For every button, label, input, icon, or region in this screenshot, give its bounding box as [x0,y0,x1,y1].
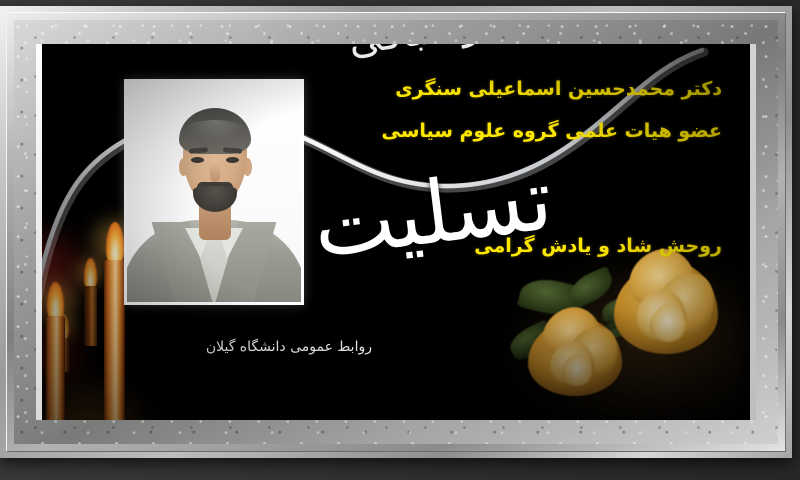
portrait-photo [124,79,304,305]
rose-petal [562,354,592,386]
candle-body [104,260,125,420]
rose-icon [610,246,722,358]
rose-petal [650,304,686,342]
invocation-calligraphy: هو الباقی [345,44,504,65]
portrait-image [127,82,301,302]
organization-signature: روابط عمومی دانشگاه گیلان [206,339,372,355]
condolence-poster: هو الباقی [0,0,800,480]
condolence-wish: روحش شاد و یادش گرامی [474,235,722,257]
portrait-eye [191,157,204,163]
candle-body [84,286,97,346]
portrait-nose [210,162,220,182]
portrait-eye [226,157,239,163]
poster-canvas: هو الباقی [42,44,750,420]
rose-icon [526,304,626,400]
deceased-name: دکتر محمدحسین اسماعیلی سنگری [395,78,722,100]
deceased-role: عضو هیات علمی گروه علوم سیاسی [382,120,723,142]
rose-icon [506,240,750,420]
candle-body [46,316,65,420]
